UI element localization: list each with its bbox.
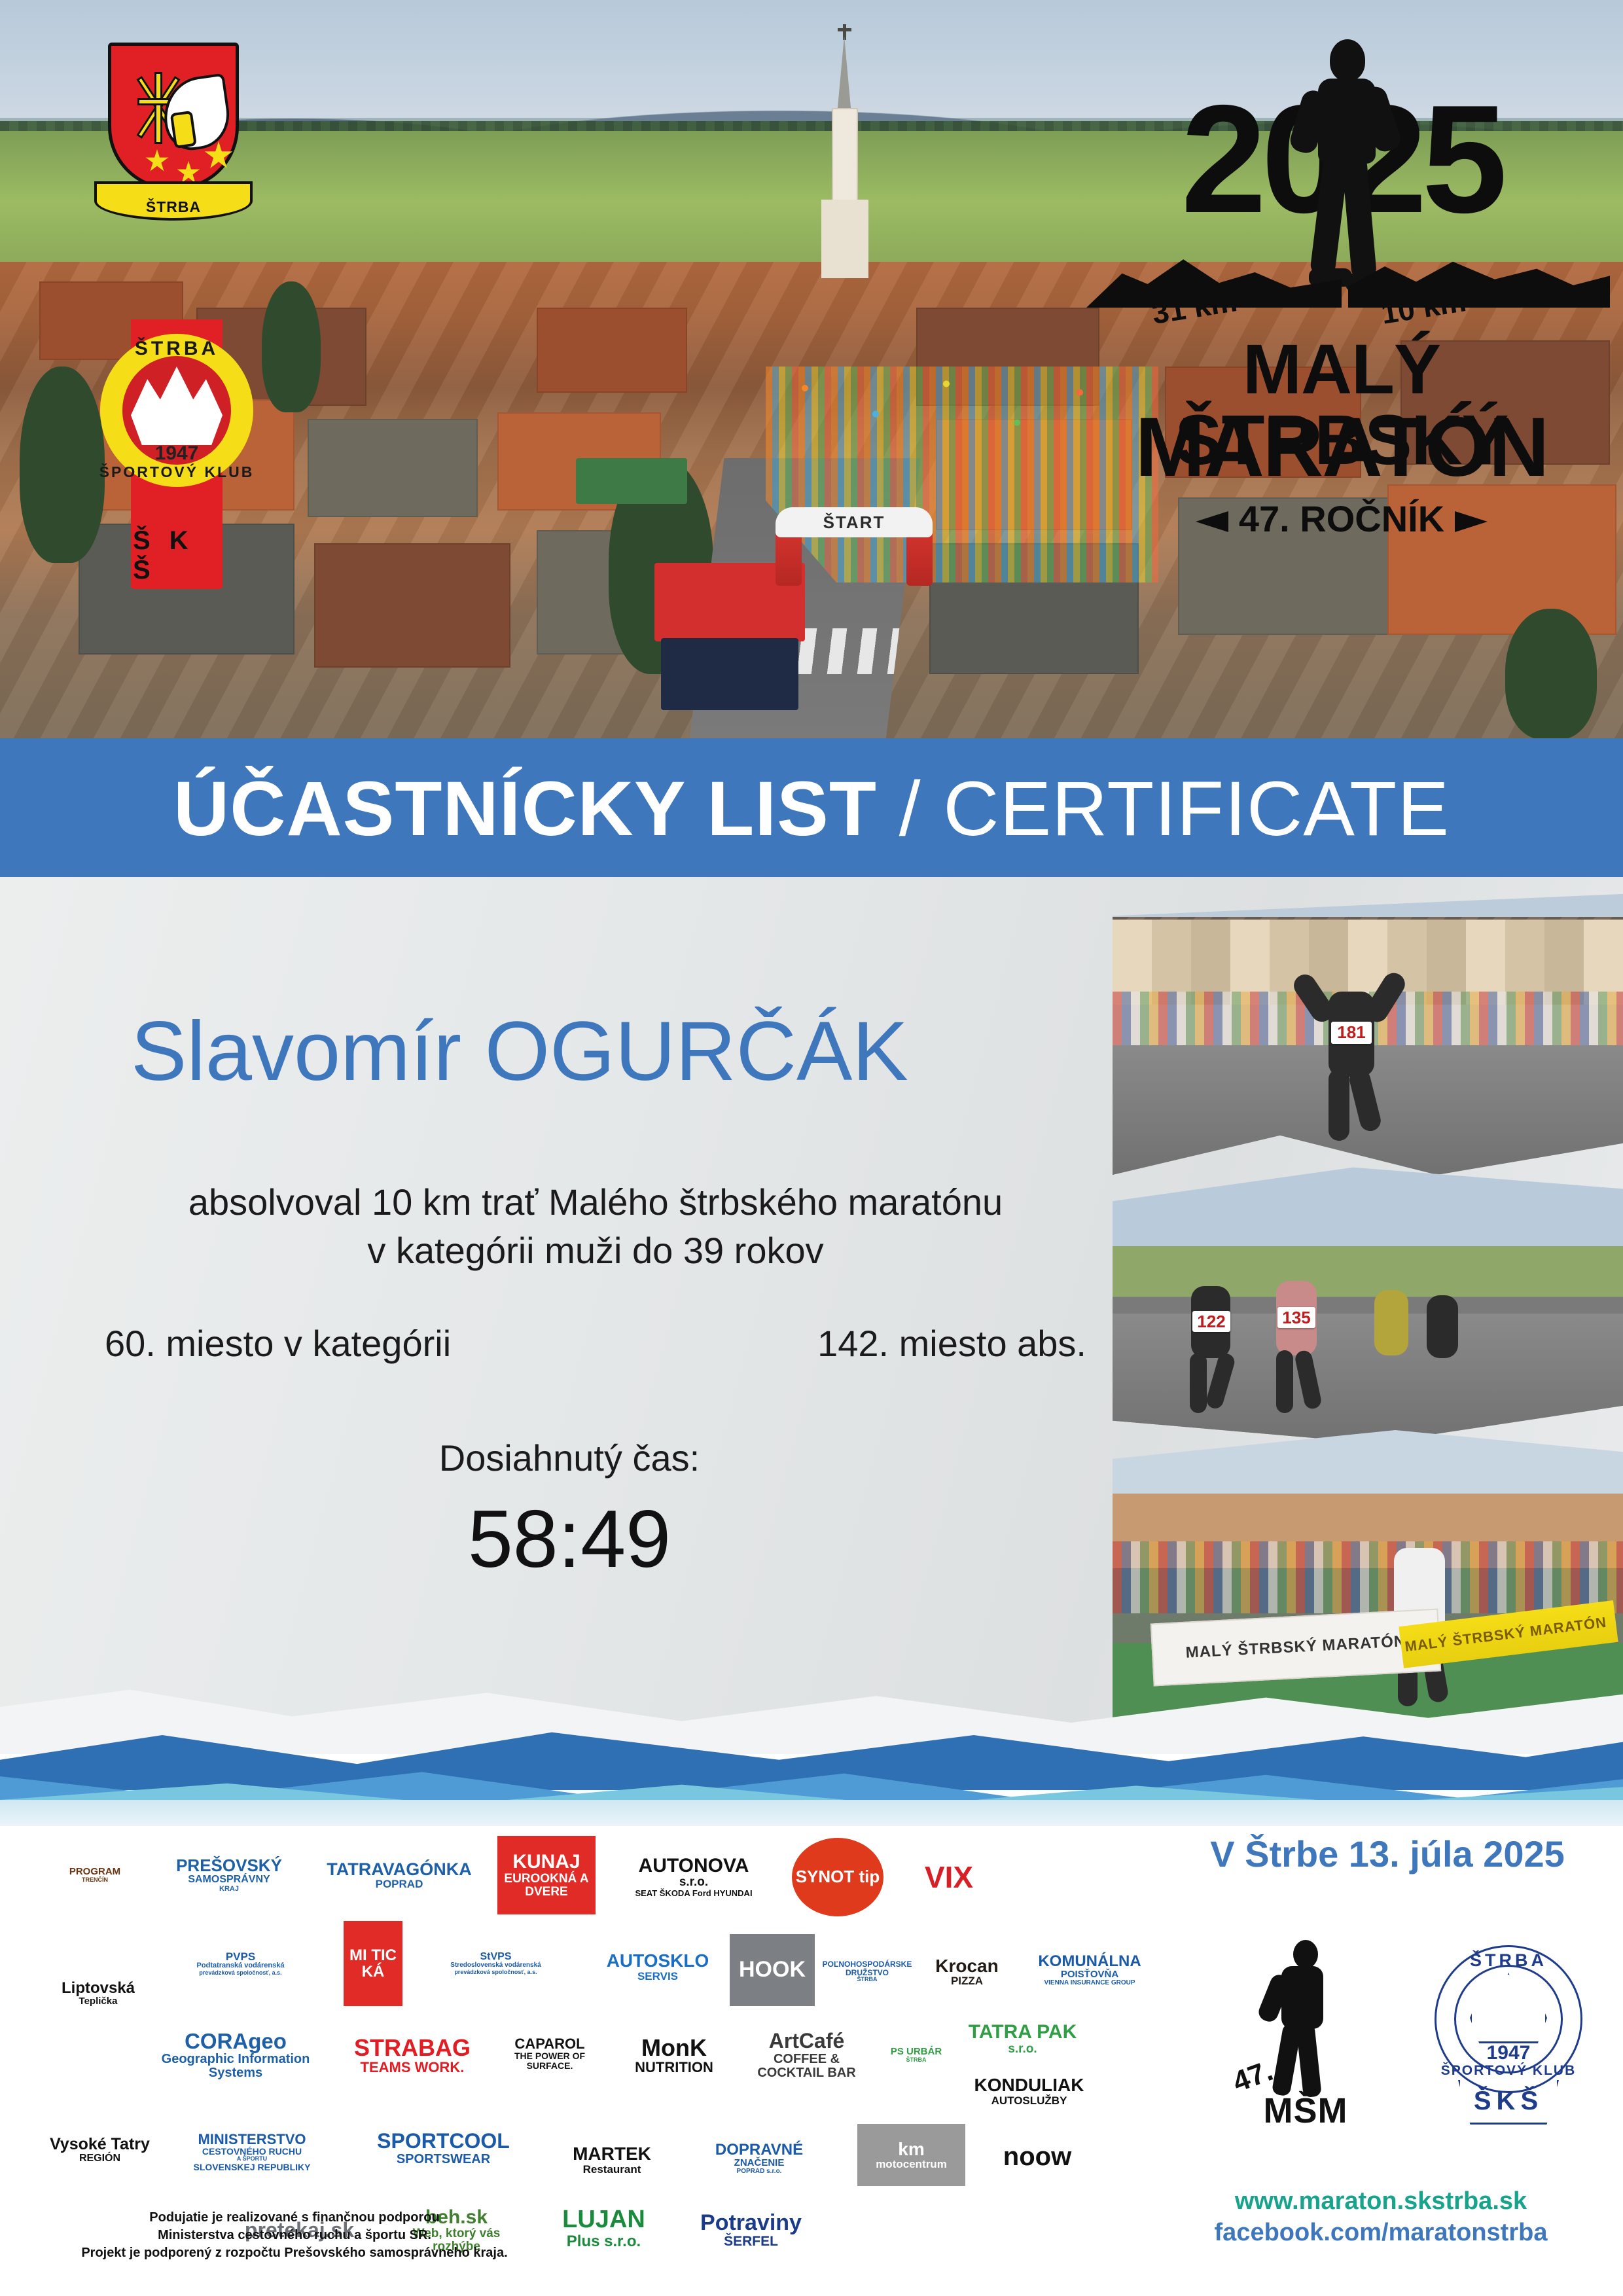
- sponsor-text-line1: Krocan: [935, 1956, 998, 1975]
- runner-leg: [1329, 1069, 1349, 1141]
- placement-row: 60. miesto v kategórii 142. miesto abs.: [79, 1322, 1113, 1365]
- bib-number: 181: [1331, 1022, 1372, 1044]
- race-photo-finisher-jump: 181: [1113, 893, 1623, 1175]
- event-edition: 47. ROČNÍK: [1073, 497, 1610, 540]
- sponsor-text-line2: Teplička: [79, 1996, 118, 2007]
- sponsor-logo-program-trencin: PROGRAMTRENČÍN: [52, 1833, 137, 1918]
- sponsor-logo-ps-urbar-strba: PS URBÁRŠTRBA: [877, 2016, 955, 2094]
- sponsor-text-line3: VIENNA INSURANCE GROUP: [1044, 1980, 1135, 1987]
- sponsor-logo-stvps: StVPSStredoslovenská vodárenskáprevádzko…: [412, 1928, 579, 2000]
- sponsor-logo-artcafe: ArtCaféCOFFEE & COCKTAIL BAR: [749, 2019, 864, 2091]
- sponsor-text-line2: s.r.o.: [679, 1876, 708, 1889]
- sponsor-logo-miticka: MI TIC KÁ: [344, 1921, 402, 2006]
- strba-coat-of-arms: ŠTRBA: [98, 29, 249, 226]
- sponsor-text-line1: MI TIC KÁ: [344, 1947, 402, 1980]
- sponsor-logo-synot-tip: SYNOT tip: [792, 1838, 883, 1916]
- sponsor-logo-noow: noow: [988, 2127, 1086, 2186]
- sponsor-text-line3: prevádzková spoločnosť, a.s.: [454, 1969, 537, 1975]
- sponsor-text-line2: TRENČÍN: [82, 1877, 108, 1883]
- sponsor-text-line3: POPRAD s.r.o.: [737, 2168, 782, 2176]
- rooftop: [314, 543, 510, 668]
- church-cross-icon: [843, 24, 846, 40]
- edition-label: 47. ROČNÍK: [1239, 498, 1444, 539]
- sponsor-text-line1: TATRAVAGÓNKA: [327, 1860, 471, 1878]
- sponsor-text-line1: LUJAN: [562, 2207, 645, 2233]
- runner-torso: [1318, 79, 1376, 164]
- sponsor-text-line2: POPRAD: [376, 1878, 423, 1890]
- sponsor-logo-ministerstvo-cestovneho-ruchu-a-sportu: MINISTERSTVOCESTOVNÉHO RUCHUA ŠPORTUSLOV…: [157, 2114, 347, 2189]
- sponsor-text-line2: AUTOSLUŽBY: [991, 2095, 1067, 2107]
- sponsor-text-line1: ArtCafé: [769, 2030, 845, 2053]
- church: [821, 36, 868, 272]
- sponsor-logo-komunalna-poistovna: KOMUNÁLNAPOISŤOVŇAVIENNA INSURANCE GROUP: [1024, 1937, 1155, 2003]
- club-bottom-text: ŠPORTOVÝ KLUB: [95, 463, 259, 481]
- bib-number: 135: [1277, 1307, 1315, 1328]
- sponsor-logo-km-motocentrum: kmmotocentrum: [857, 2124, 965, 2186]
- edition-arrow-left-icon: [1196, 511, 1228, 532]
- sponsor-text-line1: CAPAROL: [514, 2036, 584, 2051]
- sponsor-text-line1: SYNOT tip: [796, 1868, 880, 1886]
- sponsor-logo-tatra-pak: TATRA PAKs.r.o.: [965, 2016, 1080, 2062]
- runner-figure: [1374, 1290, 1408, 1355]
- sponsor-text-line2: Restaurant: [583, 2164, 641, 2176]
- sponsor-logo-lujan-plus: LUJANPlus s.r.o.: [546, 2199, 661, 2258]
- sponsor-text-line2: Geographic Information Systems: [154, 2053, 317, 2080]
- sponsor-text-line1: KONDULIAK: [974, 2075, 1084, 2094]
- sponsor-text-line1: Vysoké Tatry: [50, 2136, 150, 2153]
- funding-note-line-1: Podujatie je realizované s finančnou pod…: [59, 2209, 530, 2227]
- club-top-text: ŠTRBA: [95, 338, 259, 360]
- sponsor-text-line2: TEAMS WORK.: [361, 2060, 465, 2075]
- banner-title: ÚČASTNÍCKY LIST / CERTIFICATE: [173, 770, 1450, 848]
- issue-date: V Štrbe 13. júla 2025: [1171, 1833, 1603, 1875]
- dark-tent: [661, 638, 798, 710]
- sponsor-text-line1: PROGRAM: [69, 1867, 120, 1877]
- club-year: 1947: [95, 442, 259, 465]
- description-line-1: absolvoval 10 km trať Malého štrbského m…: [79, 1178, 1113, 1227]
- stamp-abbr: ŠKŠ: [1458, 2080, 1559, 2125]
- sponsor-text-line1: STRABAG: [354, 2036, 471, 2060]
- funding-note-line-2: Ministerstva cestovného ruchu a športu S…: [59, 2227, 530, 2244]
- sponsor-logo-strabag: STRABAGTEAMS WORK.: [340, 2022, 484, 2088]
- sponsor-logo-martek-restaurant: MARTEKRestaurant: [556, 2124, 668, 2196]
- banner-title-sk: ÚČASTNÍCKY LIST: [173, 766, 877, 852]
- sponsor-logo-dopravne-znacenie-poprad: DOPRAVNÉZNAČENIEPOPRAD s.r.o.: [684, 2130, 834, 2186]
- photo-road: [1113, 1314, 1623, 1443]
- photo-collage: 181 122 135 MALÝ ŠTRBSKÝ MARATÓN MALÝ ŠT…: [1113, 887, 1623, 1728]
- sponsor-text-line4: SLOVENSKEJ REPUBLIKY: [194, 2162, 311, 2172]
- sponsor-text-line2: ŠTRBA: [906, 2057, 927, 2063]
- sponsor-logo-autosklo-servis: AUTOSKLOSERVIS: [599, 1937, 717, 1996]
- runner-leg: [1190, 1353, 1207, 1413]
- absolute-place: 142. miesto abs.: [817, 1322, 1086, 1365]
- sponsor-text-line1: SPORTCOOL: [377, 2130, 510, 2153]
- facebook-link[interactable]: facebook.com/maratonstrba: [1152, 2217, 1610, 2249]
- sponsor-text-line2: Plus s.r.o.: [567, 2233, 641, 2250]
- event-logo: 2025 31 km 10 km MALÝ ŠTRBSKÝ MARATÓN 47…: [1073, 33, 1610, 609]
- sponsor-text-line1: MARTEK: [573, 2144, 651, 2163]
- sponsor-logo-krocan-pizza: KrocanPIZZA: [919, 1934, 1014, 2009]
- sponsor-text-line2: motocentrum: [876, 2159, 947, 2170]
- race-photo-hill-group: 122 135: [1113, 1162, 1623, 1443]
- sponsor-text-line2: SAMOSPRÁVNY: [188, 1874, 270, 1886]
- runner-head: [1330, 39, 1365, 81]
- sponsor-logo-sportcool-sportswear: SPORTCOOLSPORTSWEAR: [373, 2117, 514, 2179]
- sponsor-logo-caparol: CAPAROLTHE POWER OF SURFACE.: [497, 2019, 602, 2088]
- start-arch-label: ŠTART: [776, 507, 933, 537]
- sponsor-logo-pd-strba: POĽNOHOSPODÁRSKE DRUŽSTVOŠTRBA: [825, 1934, 910, 2009]
- crest-star-icon: [145, 149, 169, 173]
- sponsor-text-line1: VIX: [925, 1861, 973, 1893]
- edition-arrow-right-icon: [1455, 511, 1488, 532]
- sponsor-text-line1: StVPS: [480, 1952, 511, 1963]
- rooftop: [308, 419, 478, 517]
- sponsor-text-line1: HOOK: [739, 1958, 806, 1982]
- sponsor-logo-corageo: CORAgeoGeographic Information Systems: [154, 2022, 317, 2088]
- sponsor-text-line2: SPORTSWEAR: [397, 2153, 490, 2166]
- msm-edition-badge: 47. MŠM: [1230, 1931, 1374, 2127]
- sponsor-logo-kunaj: KUNAJEUROOKNÁ A DVERE: [497, 1836, 596, 1914]
- sponsor-text-line2: EUROOKNÁ A DVERE: [497, 1873, 596, 1899]
- sponsor-text-line1: MonK: [641, 2036, 707, 2060]
- sponsor-logo-autonova: AUTONOVAs.r.o.SEAT ŠKODA Ford HYUNDAI: [612, 1836, 776, 1918]
- website-link[interactable]: www.maraton.skstrba.sk: [1152, 2186, 1610, 2217]
- race-photo-finish-line: MALÝ ŠTRBSKÝ MARATÓN MALÝ ŠTRBSKÝ MARATÓ…: [1113, 1430, 1623, 1718]
- hero-photo: ŠTART ŠTRBA ŠTRBA 1947 ŠPORTOVÝ KLUB: [0, 0, 1623, 740]
- sponsor-logo-potraviny-serfel: PotravinyŠERFEL: [684, 2202, 818, 2258]
- rooftop: [537, 308, 687, 393]
- sponsor-text-line2: PIZZA: [951, 1975, 983, 1987]
- banner-title-en: CERTIFICATE: [943, 766, 1450, 852]
- description-line-2: v kategórii muži do 39 rokov: [79, 1227, 1113, 1275]
- sponsor-logo-liptovska-teplicka: LiptovskáTeplička: [52, 1931, 144, 2055]
- crest-cuff: [170, 111, 197, 149]
- sponsor-text-line2: REGIÓN: [79, 2153, 120, 2164]
- tree: [1505, 609, 1597, 740]
- sponsor-text-line2: ZNAČENIE: [734, 2158, 785, 2168]
- stamp-top-text: ŠTRBA: [1420, 1950, 1597, 1971]
- crest-cross-vertical: [154, 72, 162, 144]
- church-spire: [837, 36, 851, 115]
- badge-runner-torso: [1281, 1966, 1323, 2029]
- sponsor-logo-vix: VIX: [903, 1838, 995, 1916]
- sponsor-text-line2: ŠERFEL: [724, 2234, 778, 2249]
- achievement-description: absolvoval 10 km trať Malého štrbského m…: [79, 1178, 1113, 1275]
- sponsor-logo-monk-nutrition: MonKNUTRITION: [615, 2026, 733, 2085]
- sponsor-text-line1: AUTONOVA: [639, 1856, 749, 1876]
- sponsor-text-line1: Liptovská: [62, 1980, 135, 1996]
- funding-note: Podujatie je realizované s finančnou pod…: [59, 2209, 530, 2262]
- badge-abbr: MŠM: [1243, 2090, 1368, 2131]
- club-abbr: Š K Š: [133, 511, 221, 589]
- event-name-line2: MARATÓN: [1073, 406, 1610, 490]
- certificate-banner: ÚČASTNÍCKY LIST / CERTIFICATE: [0, 738, 1623, 879]
- green-tent: [576, 458, 687, 504]
- tree: [20, 367, 105, 563]
- sponsor-text-line3: prevádzková spoločnosť, a.s.: [199, 1970, 281, 1976]
- sponsor-logo-tatravagonka-poprad: TATRAVAGÓNKAPOPRAD: [321, 1842, 478, 1908]
- sponsor-text-line1: PREŠOVSKÝ: [176, 1857, 282, 1874]
- photo-spectators: [1113, 1541, 1623, 1613]
- time-label: Dosiahnutý čas:: [79, 1437, 1060, 1479]
- funding-note-line-3: Projekt je podporený z rozpočtu Prešovsk…: [59, 2244, 530, 2262]
- church-nave: [821, 200, 868, 278]
- sponsor-text-line1: TATRA PAK: [969, 2022, 1077, 2043]
- start-arch: ŠTART: [776, 507, 933, 586]
- sponsor-text-line1: POĽNOHOSPODÁRSKE DRUŽSTVO: [823, 1960, 912, 1977]
- crest-ribbon-label: ŠTRBA: [94, 181, 253, 221]
- bib-number: 122: [1192, 1311, 1230, 1332]
- sponsor-text-line1: PVPS: [226, 1951, 255, 1963]
- mountain-profile-row: 31 km 10 km: [1073, 249, 1610, 334]
- sponsor-text-line2: ŠTRBA: [857, 1977, 878, 1982]
- participant-name: Slavomír OGURČÁK: [131, 1008, 1099, 1096]
- time-value: 58:49: [79, 1499, 1060, 1580]
- sponsor-text-line1: KOMUNÁLNA: [1038, 1953, 1141, 1969]
- contact-links: www.maraton.skstrba.sk facebook.com/mara…: [1152, 2186, 1610, 2248]
- runner-leg: [1276, 1350, 1293, 1413]
- sponsor-text-line3: SEAT ŠKODA Ford HYUNDAI: [635, 1889, 752, 1898]
- sponsor-logo-presovsky-samospravny-kraj: PREŠOVSKÝSAMOSPRÁVNYKRAJ: [154, 1839, 304, 1911]
- badge-runner-leg: [1296, 2023, 1322, 2098]
- club-stamp: ŠTRBA 1947 ŠPORTOVÝ KLUB ŠKŠ: [1420, 1931, 1597, 2127]
- sponsor-text-line1: AUTOSKLO: [607, 1951, 709, 1970]
- stamp-bottom-text: ŠPORTOVÝ KLUB: [1420, 2063, 1597, 2079]
- badge-runner-head: [1293, 1940, 1318, 1969]
- sponsor-text-line1: noow: [1003, 2143, 1071, 2170]
- sponsor-text-line2: SERVIS: [637, 1971, 678, 1982]
- sks-club-logo: ŠTRBA 1947 ŠPORTOVÝ KLUB Š K Š: [95, 314, 259, 602]
- sponsor-text-line1: KUNAJ: [512, 1852, 580, 1873]
- sponsor-text-line2: THE POWER OF SURFACE.: [497, 2051, 602, 2070]
- sponsor-text-line1: PS URBÁR: [891, 2047, 942, 2057]
- sponsor-text-line3: KRAJ: [219, 1886, 239, 1893]
- sponsor-text-line1: Potraviny: [700, 2212, 802, 2235]
- runner-figure: [1427, 1295, 1458, 1358]
- category-place: 60. miesto v kategórii: [105, 1322, 451, 1365]
- sponsor-logo-pvps: PVPSPodtatranská vodárenskáprevádzková s…: [154, 1928, 327, 2000]
- sponsor-logo-hook: HOOK: [730, 1934, 815, 2006]
- sponsor-text-line2: COFFEE & COCKTAIL BAR: [749, 2053, 864, 2080]
- sponsor-text-line2: NUTRITION: [635, 2060, 713, 2075]
- sponsor-text-line2: s.r.o.: [1008, 2043, 1037, 2056]
- sponsor-text-line2: POISŤOVŇA: [1061, 1969, 1118, 1980]
- sponsor-text-line1: km: [898, 2140, 924, 2159]
- sponsor-logo-konduliak-autosluzby: KONDULIAKAUTOSLUŽBY: [969, 2068, 1090, 2114]
- banner-title-separator: /: [877, 766, 943, 852]
- sponsor-logo-vysoke-tatry-region: Vysoké TatryREGIÓN: [49, 2108, 151, 2193]
- crest-shield: [108, 43, 239, 190]
- sponsor-text-line1: MINISTERSTVO: [198, 2132, 306, 2147]
- sponsor-text-line1: DOPRAVNÉ: [715, 2142, 803, 2158]
- sponsor-text-line1: CORAgeo: [185, 2030, 287, 2053]
- stamp-year: 1947: [1420, 2042, 1597, 2064]
- tree: [262, 281, 321, 412]
